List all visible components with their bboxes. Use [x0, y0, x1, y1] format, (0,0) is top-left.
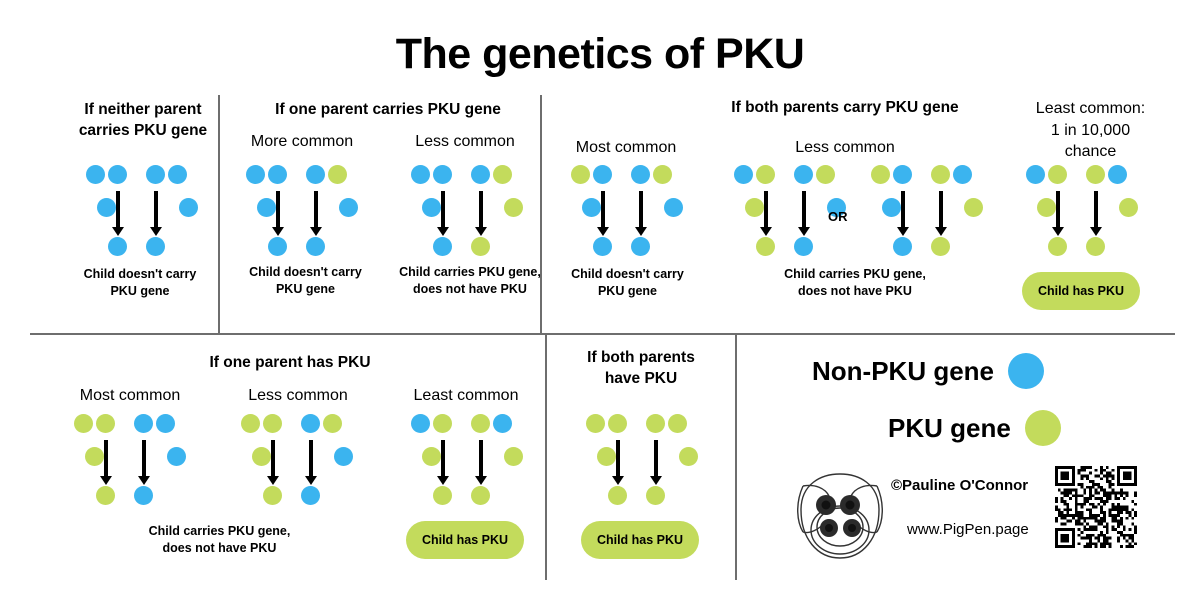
child-gene-b [301, 486, 320, 505]
child-gene-b [794, 237, 813, 256]
parent2-gene-b [668, 414, 687, 433]
child-gene-b [931, 237, 950, 256]
parent2-gene-b [493, 414, 512, 433]
inheritance-arrow-left [276, 191, 280, 228]
inheritance-arrow-right [654, 440, 658, 477]
parent1-gene-a [571, 165, 590, 184]
inheritance-arrow-right [802, 191, 806, 228]
inheritance-arrow-right [1094, 191, 1098, 228]
parent1-gene-b [108, 165, 127, 184]
parent2-gene-a [134, 414, 153, 433]
parent1-gene-b [433, 414, 452, 433]
child-gene-b [471, 237, 490, 256]
diagram-one-has-least [405, 414, 525, 514]
parent1-gene-a [586, 414, 605, 433]
inheritance-arrow-right [939, 191, 943, 228]
badge-child-has-pku-both-have: Child has PKU [581, 521, 699, 559]
inheritance-arrow-right [479, 440, 483, 477]
parent2-gene-b [816, 165, 835, 184]
parent2-gene-a [931, 165, 950, 184]
inheritance-arrow-left [901, 191, 905, 228]
section-heading-both-carry: If both parents carry PKU gene [700, 98, 990, 119]
divider-vertical-bottom-2 [735, 335, 737, 580]
section-heading-least-common-top: Least common:1 in 10,000chance [1008, 98, 1173, 163]
unpassed-gene-right [1119, 198, 1138, 217]
website-text: www.PigPen.page [907, 521, 1029, 538]
diagram-neither-parent [80, 165, 200, 265]
unpassed-gene-right [504, 198, 523, 217]
caption-neither-parent: Child doesn't carryPKU gene [55, 266, 225, 300]
parent2-gene-a [794, 165, 813, 184]
parent1-gene-a [871, 165, 890, 184]
parent2-gene-b [168, 165, 187, 184]
parent1-gene-a [241, 414, 260, 433]
divider-vertical-bottom-1 [545, 335, 547, 580]
unpassed-gene-right [167, 447, 186, 466]
parent1-gene-a [86, 165, 105, 184]
inheritance-arrow-right [309, 440, 313, 477]
child-gene-a [593, 237, 612, 256]
inheritance-arrow-right [639, 191, 643, 228]
parent1-gene-a [246, 165, 265, 184]
subheading-one-carries-more: More common [232, 132, 372, 153]
child-gene-a [268, 237, 287, 256]
child-gene-a [263, 486, 282, 505]
parent2-gene-a [301, 414, 320, 433]
parent2-gene-b [653, 165, 672, 184]
parent1-gene-b [756, 165, 775, 184]
parent1-gene-a [1026, 165, 1045, 184]
unpassed-gene-left [422, 447, 441, 466]
parent1-gene-b [96, 414, 115, 433]
child-gene-a [108, 237, 127, 256]
child-gene-b [1086, 237, 1105, 256]
inheritance-arrow-left [1056, 191, 1060, 228]
parent2-gene-b [493, 165, 512, 184]
diagram-one-carries-more [240, 165, 360, 265]
child-gene-a [433, 486, 452, 505]
child-gene-b [146, 237, 165, 256]
unpassed-gene-left [597, 447, 616, 466]
parent1-gene-b [268, 165, 287, 184]
divider-horizontal-main [30, 333, 1175, 335]
pku-gene-swatch-icon [1025, 410, 1061, 446]
diagram-least-common-top [1020, 165, 1140, 265]
unpassed-gene-left [252, 447, 271, 466]
subheading-both-carry-most: Most common [556, 138, 696, 159]
unpassed-gene-left [882, 198, 901, 217]
inheritance-arrow-right [142, 440, 146, 477]
subheading-both-carry-less: Less common [775, 138, 915, 159]
diagram-one-has-most [68, 414, 188, 514]
child-gene-b [646, 486, 665, 505]
parent2-gene-a [146, 165, 165, 184]
pig-face-logo-icon [785, 470, 895, 570]
section-heading-neither-parent: If neither parentcarries PKU gene [58, 100, 228, 142]
parent2-gene-a [646, 414, 665, 433]
diagram-both-carry-most [565, 165, 685, 265]
parent1-gene-b [593, 165, 612, 184]
qr-code-icon[interactable] [1055, 466, 1137, 553]
unpassed-gene-left [1037, 198, 1056, 217]
unpassed-gene-right [664, 198, 683, 217]
inheritance-arrow-left [764, 191, 768, 228]
unpassed-gene-left [97, 198, 116, 217]
subheading-one-has-least: Least common [396, 386, 536, 407]
caption-both-carry-most: Child doesn't carryPKU gene [545, 266, 710, 300]
parent2-gene-b [1108, 165, 1127, 184]
inheritance-arrow-right [314, 191, 318, 228]
legend-item-non-pku: Non-PKU gene [812, 353, 1044, 389]
parent1-gene-a [734, 165, 753, 184]
unpassed-gene-right [504, 447, 523, 466]
unpassed-gene-right [339, 198, 358, 217]
parent1-gene-a [74, 414, 93, 433]
section-heading-one-has-pku: If one parent has PKU [145, 353, 435, 374]
section-heading-both-have-pku: If both parentshave PKU [556, 348, 726, 390]
parent1-gene-b [608, 414, 627, 433]
parent2-gene-b [328, 165, 347, 184]
legend-label-non-pku: Non-PKU gene [812, 356, 994, 387]
inheritance-arrow-left [104, 440, 108, 477]
parent2-gene-b [156, 414, 175, 433]
diagram-one-has-less [235, 414, 355, 514]
section-heading-one-carries: If one parent carries PKU gene [238, 100, 538, 121]
unpassed-gene-right [964, 198, 983, 217]
caption-both-carry-less: Child carries PKU gene,does not have PKU [760, 266, 950, 300]
child-gene-a [608, 486, 627, 505]
subheading-one-has-less: Less common [228, 386, 368, 407]
child-gene-b [134, 486, 153, 505]
inheritance-arrow-left [116, 191, 120, 228]
parent1-gene-b [1048, 165, 1067, 184]
caption-one-carries-more: Child doesn't carryPKU gene [218, 264, 393, 298]
parent2-gene-a [471, 414, 490, 433]
parent2-gene-a [471, 165, 490, 184]
caption-one-carries-less: Child carries PKU gene,does not have PKU [375, 264, 565, 298]
child-gene-a [1048, 237, 1067, 256]
inheritance-arrow-right [154, 191, 158, 228]
parent1-gene-a [411, 414, 430, 433]
parent1-gene-b [263, 414, 282, 433]
page-title: The genetics of PKU [0, 30, 1200, 79]
parent2-gene-b [953, 165, 972, 184]
subheading-one-has-most: Most common [60, 386, 200, 407]
diagram-one-carries-less [405, 165, 525, 265]
parent1-gene-a [411, 165, 430, 184]
caption-one-has-pku: Child carries PKU gene,does not have PKU [122, 523, 317, 557]
unpassed-gene-left [582, 198, 601, 217]
or-separator-label: OR [828, 209, 848, 224]
inheritance-arrow-left [616, 440, 620, 477]
diagram-both-have-pku [580, 414, 700, 514]
unpassed-gene-left [422, 198, 441, 217]
child-gene-b [471, 486, 490, 505]
parent2-gene-b [323, 414, 342, 433]
child-gene-a [756, 237, 775, 256]
inheritance-arrow-left [271, 440, 275, 477]
child-gene-b [631, 237, 650, 256]
non-pku-gene-swatch-icon [1008, 353, 1044, 389]
parent1-gene-b [433, 165, 452, 184]
unpassed-gene-right [679, 447, 698, 466]
parent1-gene-b [893, 165, 912, 184]
child-gene-b [306, 237, 325, 256]
badge-child-has-pku-one-has: Child has PKU [406, 521, 524, 559]
parent2-gene-a [631, 165, 650, 184]
parent2-gene-a [306, 165, 325, 184]
unpassed-gene-left [85, 447, 104, 466]
subheading-one-carries-less: Less common [395, 132, 535, 153]
parent2-gene-a [1086, 165, 1105, 184]
badge-child-has-pku-top: Child has PKU [1022, 272, 1140, 310]
copyright-text: ©Pauline O'Connor [891, 477, 1028, 494]
child-gene-a [893, 237, 912, 256]
unpassed-gene-right [179, 198, 198, 217]
legend-item-pku: PKU gene [888, 410, 1061, 446]
inheritance-arrow-right [479, 191, 483, 228]
unpassed-gene-left [745, 198, 764, 217]
inheritance-arrow-left [441, 191, 445, 228]
child-gene-a [433, 237, 452, 256]
inheritance-arrow-left [601, 191, 605, 228]
infographic-canvas: The genetics of PKU If neither parentcar… [0, 0, 1200, 600]
diagram-both-carry-less-b [865, 165, 985, 265]
legend-label-pku: PKU gene [888, 413, 1011, 444]
unpassed-gene-right [334, 447, 353, 466]
inheritance-arrow-left [441, 440, 445, 477]
child-gene-a [96, 486, 115, 505]
unpassed-gene-left [257, 198, 276, 217]
